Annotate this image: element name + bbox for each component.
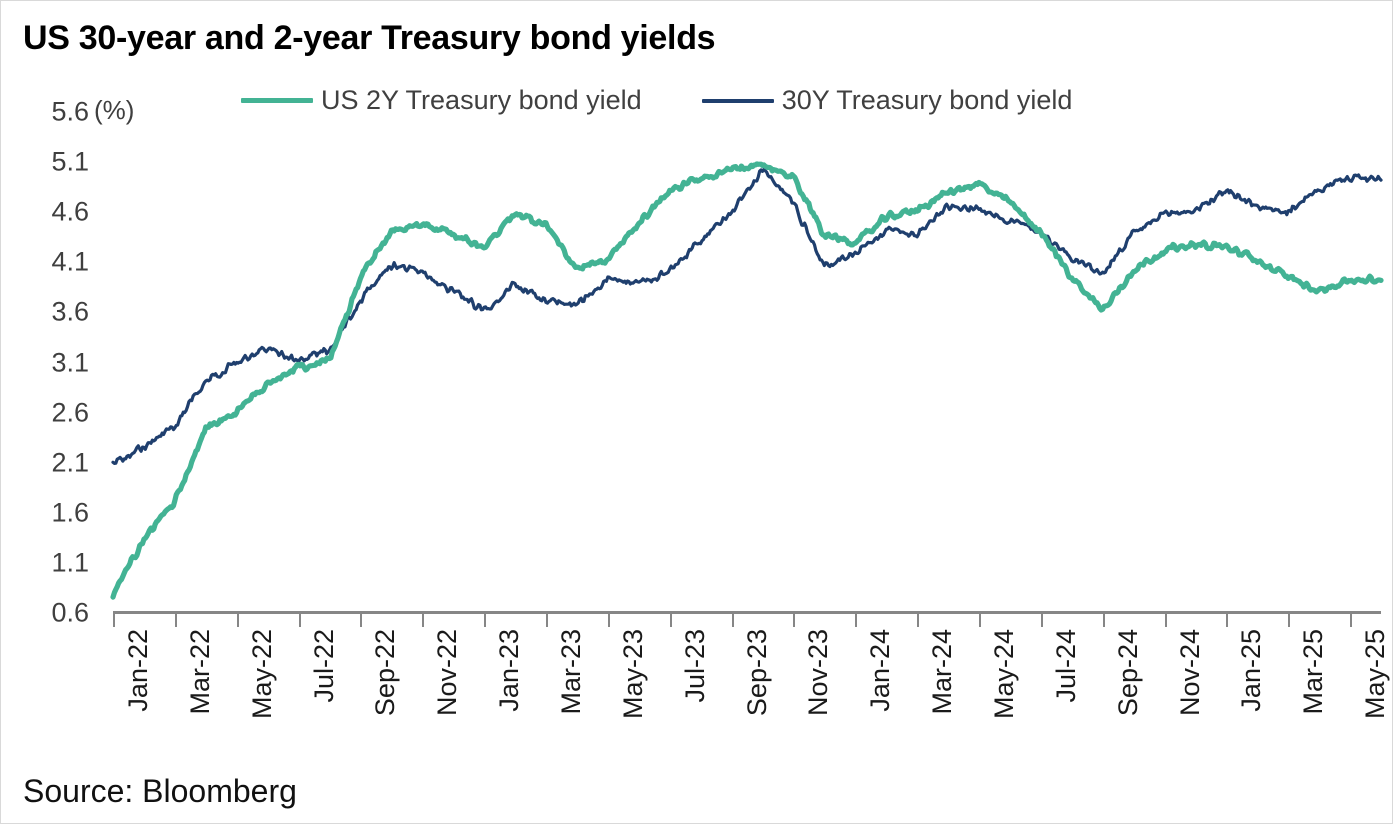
x-tick-label: Sep-23 <box>742 629 773 716</box>
x-axis-tick <box>1288 614 1290 627</box>
x-tick-label: Nov-22 <box>432 629 463 716</box>
x-tick-label: Sep-24 <box>1113 629 1144 716</box>
legend-item-30y[interactable]: 30Y Treasury bond yield <box>702 87 1073 114</box>
legend-label-2y: US 2Y Treasury bond yield <box>321 87 642 114</box>
x-tick-label: Jan-24 <box>865 629 896 712</box>
x-axis-tick <box>1103 614 1105 627</box>
y-tick-label: 2.1 <box>51 447 89 478</box>
plot-area <box>113 112 1381 613</box>
x-tick-label: May-25 <box>1360 629 1391 719</box>
x-axis-tick <box>1226 614 1228 627</box>
x-axis-tick <box>237 614 239 627</box>
legend-item-2y[interactable]: US 2Y Treasury bond yield <box>241 87 642 114</box>
x-tick-label: Mar-25 <box>1298 629 1329 715</box>
y-tick-label: 5.6 <box>51 97 89 128</box>
x-tick-label: Jul-23 <box>680 629 711 703</box>
x-tick-label: Jan-23 <box>494 629 525 712</box>
x-tick-label: Mar-24 <box>927 629 958 715</box>
y-tick-label: 1.1 <box>51 547 89 578</box>
x-axis-ticks <box>1 614 1393 628</box>
x-axis-tick <box>484 614 486 627</box>
x-axis-labels: Jan-22Mar-22May-22Jul-22Sep-22Nov-22Jan-… <box>1 629 1393 739</box>
y-tick-label: 4.6 <box>51 197 89 228</box>
x-axis-tick <box>1165 614 1167 627</box>
line-series-30y <box>113 170 1381 464</box>
series-canvas <box>113 112 1381 613</box>
x-axis-tick <box>793 614 795 627</box>
x-tick-label: May-23 <box>618 629 649 719</box>
chart-root: US 30-year and 2-year Treasury bond yiel… <box>0 0 1393 824</box>
x-tick-label: May-24 <box>989 629 1020 719</box>
chart-legend: US 2Y Treasury bond yield 30Y Treasury b… <box>241 87 1072 114</box>
legend-label-30y: 30Y Treasury bond yield <box>782 87 1073 114</box>
x-axis-tick <box>855 614 857 627</box>
x-tick-label: Mar-23 <box>556 629 587 715</box>
y-tick-label: 5.1 <box>51 147 89 178</box>
page-title: US 30-year and 2-year Treasury bond yiel… <box>23 19 715 58</box>
x-tick-label: Sep-22 <box>370 629 401 716</box>
y-tick-label: 1.6 <box>51 497 89 528</box>
x-axis-tick <box>422 614 424 627</box>
x-axis-tick <box>732 614 734 627</box>
y-tick-label: 2.6 <box>51 397 89 428</box>
x-axis-tick <box>917 614 919 627</box>
legend-swatch-2y-icon <box>241 98 313 103</box>
x-axis-tick <box>113 614 115 627</box>
x-axis-tick <box>360 614 362 627</box>
x-axis-tick <box>670 614 672 627</box>
y-tick-label: 3.6 <box>51 297 89 328</box>
x-tick-label: Jan-25 <box>1236 629 1267 712</box>
source-note: Source: Bloomberg <box>23 773 297 810</box>
x-axis-tick <box>1041 614 1043 627</box>
legend-swatch-30y-icon <box>702 99 774 103</box>
x-axis-tick <box>546 614 548 627</box>
y-tick-label: 4.1 <box>51 247 89 278</box>
x-tick-label: Nov-23 <box>803 629 834 716</box>
x-axis-tick <box>299 614 301 627</box>
x-axis-tick <box>175 614 177 627</box>
x-tick-label: May-22 <box>247 629 278 719</box>
x-axis-tick <box>608 614 610 627</box>
x-tick-label: Mar-22 <box>185 629 216 715</box>
x-tick-label: Nov-24 <box>1175 629 1206 716</box>
x-axis-tick <box>1350 614 1352 627</box>
x-tick-label: Jul-22 <box>309 629 340 703</box>
x-tick-label: Jul-24 <box>1051 629 1082 703</box>
y-tick-label: 3.1 <box>51 347 89 378</box>
x-tick-label: Jan-22 <box>123 629 154 712</box>
x-axis-tick <box>979 614 981 627</box>
line-series-2y <box>113 164 1381 597</box>
